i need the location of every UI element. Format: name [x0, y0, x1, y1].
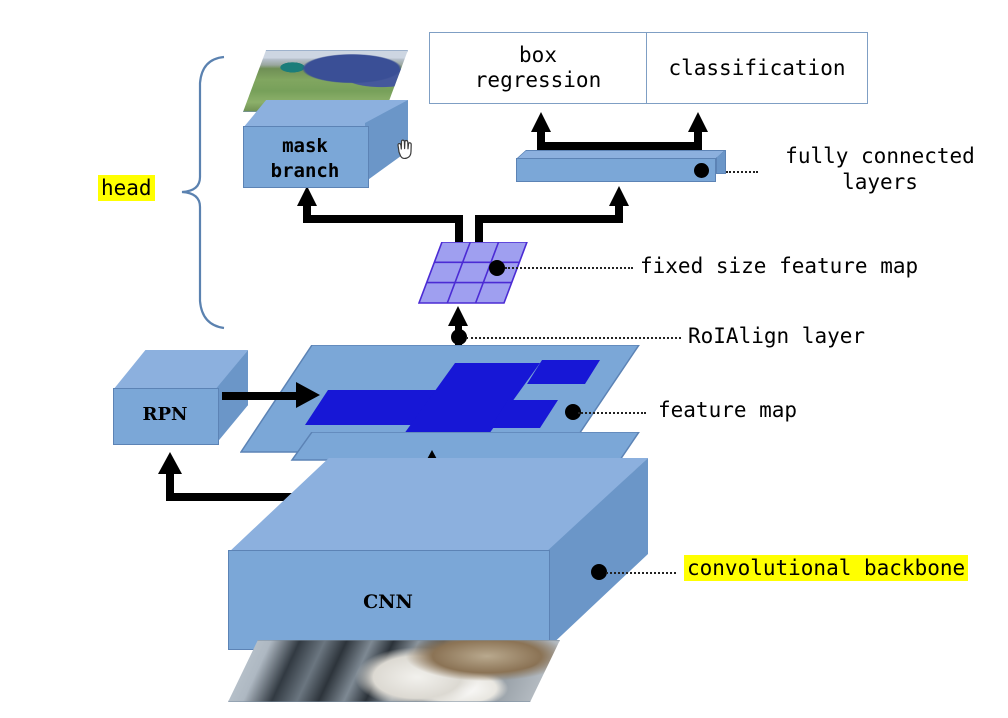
roialign-marker-dot	[451, 329, 467, 345]
fc-bar-front-face	[516, 158, 716, 182]
cnn-marker-dot	[591, 564, 607, 580]
roialign-bold-text: RoIAlign	[688, 324, 789, 348]
diagram-canvas: box regression classification fully conn…	[0, 0, 1008, 718]
fixed-size-feature-map-marker-dot	[489, 260, 505, 276]
label-feature-map: feature map	[658, 397, 797, 423]
rpn-block[interactable]: RPN	[113, 350, 248, 455]
fixed-size-feature-map-grid[interactable]	[418, 242, 528, 304]
arrow-grid-to-mask-horizontal	[303, 215, 463, 223]
arrow-fc-to-classification-head	[688, 112, 708, 132]
cnn-label: CNN	[228, 590, 548, 615]
fully-connected-layers-bar[interactable]	[516, 150, 732, 186]
convolutional-backbone-highlight: convolutional backbone	[684, 555, 968, 581]
leader-convolutional-backbone	[606, 572, 676, 574]
mask-branch-label: mask branch	[243, 134, 367, 183]
arrow-cnn-to-rpn-vertical	[166, 470, 174, 498]
cnn-block[interactable]: CNN	[228, 458, 648, 658]
roialign-rest-text: layer	[789, 324, 865, 348]
label-fully-connected-layers: fully connected layers	[760, 143, 1000, 196]
arrow-rpn-to-feature-map-head	[296, 382, 320, 408]
leader-roialign-layer	[466, 337, 681, 339]
label-fixed-size-feature-map: fixed size feature map	[640, 253, 918, 279]
leader-feature-map	[578, 412, 646, 414]
label-convolutional-backbone: convolutional backbone	[684, 555, 968, 581]
rpn-label: RPN	[113, 403, 217, 426]
head-brace	[178, 55, 228, 330]
head-highlight: head	[98, 175, 155, 201]
arrow-cnn-to-rpn-head	[158, 452, 182, 474]
output-box-classification[interactable]: classification	[646, 32, 868, 104]
arrow-grid-to-mask-head	[297, 186, 317, 206]
arrow-fc-to-box-regression-head	[531, 112, 551, 132]
arrow-roialign-head	[448, 306, 468, 326]
leader-fixed-size-feature-map	[505, 267, 633, 269]
label-roialign-layer: RoIAlign layer	[688, 323, 865, 349]
arrow-grid-to-fc-head	[609, 186, 629, 206]
arrow-grid-to-fc-horizontal	[475, 215, 623, 223]
leader-fully-connected-layers	[726, 171, 758, 173]
output-box-box-regression[interactable]: box regression	[429, 32, 647, 104]
arrow-rpn-to-feature-map-shaft	[222, 392, 300, 400]
input-image-plane	[228, 640, 560, 702]
fc-layers-marker-dot	[694, 163, 709, 178]
hand-cursor-icon	[394, 136, 418, 162]
label-head: head	[98, 175, 155, 201]
